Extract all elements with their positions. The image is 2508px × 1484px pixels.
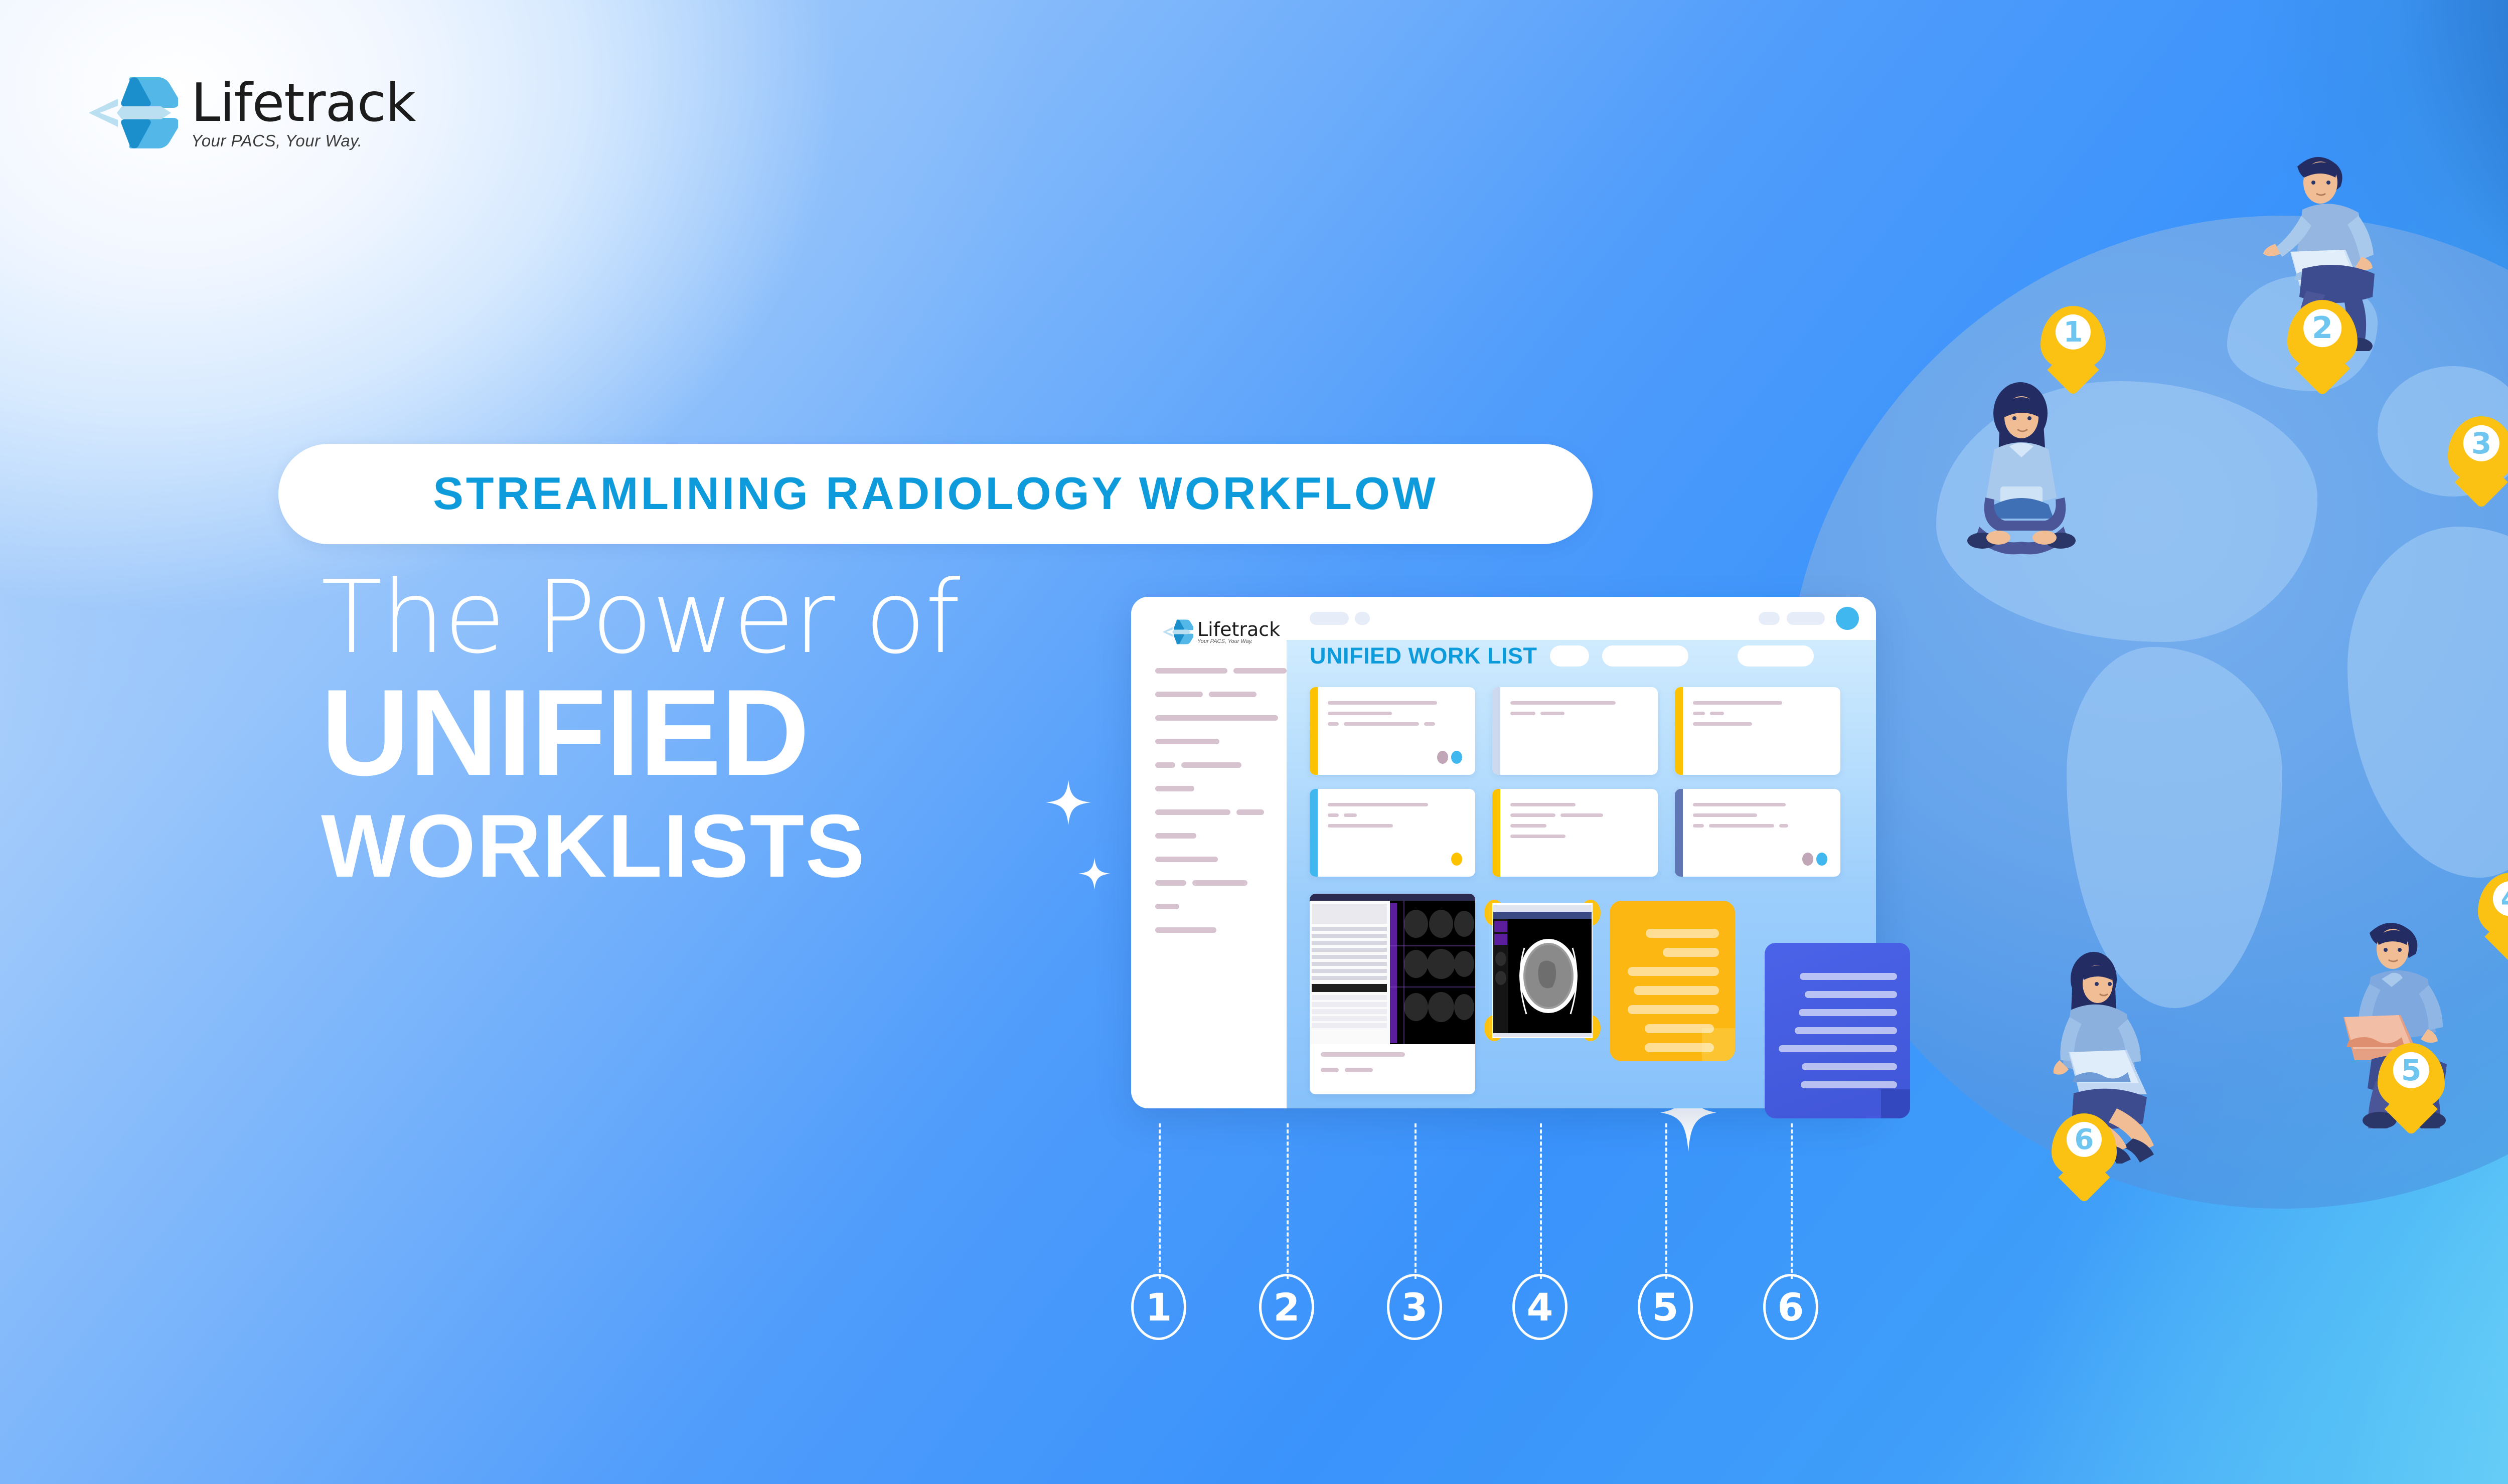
worklist-card-meta-item <box>1693 824 1704 828</box>
sidebar-menu-item[interactable] <box>1155 762 1287 768</box>
sidebar-item-label-placeholder <box>1233 668 1287 674</box>
sidebar-item-label-placeholder <box>1155 715 1278 721</box>
worklist-card-avatars <box>1451 853 1462 866</box>
worklist-card[interactable] <box>1675 687 1840 775</box>
avatar <box>1437 751 1448 764</box>
mockup-topbar[interactable] <box>1287 597 1876 640</box>
brand-name: Lifetrack <box>191 77 415 129</box>
lifetrack-hexagon-arrow-icon <box>88 75 178 150</box>
worklist-card-text-line <box>1510 701 1616 705</box>
worklist-header: UNIFIED WORK LIST <box>1310 643 1876 669</box>
worklist-card-meta-item <box>1709 824 1774 828</box>
worklist-card-meta-item <box>1540 712 1564 715</box>
map-pin-5-number: 5 <box>2393 1052 2429 1088</box>
worklist-card-meta-item <box>1710 712 1724 715</box>
sidebar-menu-item[interactable] <box>1155 857 1287 862</box>
step-connector-line <box>1665 1123 1667 1279</box>
worklist-card[interactable] <box>1310 789 1475 877</box>
sidebar-item-label-placeholder <box>1181 762 1241 768</box>
sidebar-menu-item[interactable] <box>1155 739 1287 744</box>
sidebar-menu-item[interactable] <box>1155 904 1287 909</box>
step-indicator-circle[interactable]: 4 <box>1512 1274 1568 1340</box>
worklist-card-text-line <box>1328 712 1392 715</box>
worklist-card[interactable] <box>1675 789 1840 877</box>
worklist-card-meta-row <box>1328 722 1463 726</box>
worklist-card-text-line <box>1328 824 1393 828</box>
step-indicator-circle[interactable]: 6 <box>1763 1274 1818 1340</box>
map-pin-4-number: 4 <box>2493 881 2508 916</box>
step-indicator-5[interactable]: 5 <box>1638 1274 1693 1340</box>
brand-wordmark: Lifetrack Your PACS, Your Way. <box>191 77 415 149</box>
page-title: The Power of UNIFIED WORKLISTS <box>321 567 960 891</box>
worklist-card-avatars <box>1802 853 1827 866</box>
map-pin-3-number: 3 <box>2463 425 2499 461</box>
worklist-filter-pill[interactable] <box>1738 645 1814 667</box>
worklist-card-meta-item <box>1693 712 1705 715</box>
step-connector-line <box>1159 1123 1161 1279</box>
worklist-card-status-edge <box>1310 687 1318 775</box>
headline-line-3: WORKLISTS <box>321 801 960 891</box>
topbar-pill[interactable] <box>1355 612 1370 625</box>
ct-head-scan[interactable] <box>1492 903 1593 1038</box>
topbar-pill[interactable] <box>1759 612 1780 625</box>
step-connector-line <box>1415 1123 1417 1279</box>
report-document-blue[interactable] <box>1765 943 1910 1118</box>
sidebar-item-label-placeholder <box>1155 668 1227 674</box>
worklist-card-meta-row <box>1693 712 1828 715</box>
worklist-card-text-line <box>1328 701 1437 705</box>
worklist-card-status-edge <box>1310 789 1318 877</box>
worklist-card-meta-row <box>1693 824 1828 828</box>
sidebar-menu-item[interactable] <box>1155 786 1287 791</box>
sidebar-item-label-placeholder <box>1155 927 1216 933</box>
map-pin-1[interactable]: 1 <box>2041 306 2106 371</box>
sidebar-item-label-placeholder <box>1209 692 1257 697</box>
sparkle-icon <box>1046 780 1091 825</box>
sidebar-item-label-placeholder <box>1155 833 1196 839</box>
sidebar-item-label-placeholder <box>1155 809 1230 815</box>
report-document-yellow[interactable] <box>1610 901 1735 1061</box>
worklist-card-grid[interactable] <box>1310 687 1876 877</box>
headline-badge: STREAMLINING RADIOLOGY WORKFLOW <box>278 444 1593 544</box>
step-indicator-circle[interactable]: 3 <box>1387 1274 1442 1340</box>
worklist-card[interactable] <box>1492 789 1658 877</box>
worklist-card-text-line <box>1693 701 1782 705</box>
topbar-pill[interactable] <box>1310 612 1349 625</box>
sidebar-item-label-placeholder <box>1155 857 1218 862</box>
worklist-filter-pill[interactable] <box>1602 645 1688 667</box>
step-indicator-3[interactable]: 3 <box>1387 1274 1442 1340</box>
worklist-card-text-line <box>1328 803 1428 806</box>
lifetrack-hexagon-arrow-icon <box>1162 619 1193 645</box>
sidebar-item-label-placeholder <box>1155 692 1203 697</box>
headline-line-1: The Power of <box>321 567 960 669</box>
sidebar-menu-item[interactable] <box>1155 880 1287 886</box>
avatar <box>1451 751 1462 764</box>
avatar <box>1816 853 1827 866</box>
brand-logo: Lifetrack Your PACS, Your Way. <box>88 75 415 150</box>
sidebar-menu-item[interactable] <box>1155 833 1287 839</box>
step-connector-line <box>1791 1123 1793 1279</box>
map-pin-5[interactable]: 5 <box>2378 1043 2445 1110</box>
topbar-pill[interactable] <box>1787 612 1825 625</box>
step-connector-line <box>1287 1123 1289 1279</box>
step-indicator-1[interactable]: 1 <box>1131 1274 1186 1340</box>
worklist-card-text-line <box>1510 803 1576 806</box>
sidebar-menu-item[interactable] <box>1155 809 1287 815</box>
step-indicator-2[interactable]: 2 <box>1259 1274 1314 1340</box>
brand-tagline: Your PACS, Your Way. <box>191 132 415 149</box>
avatar <box>1802 853 1813 866</box>
sidebar-item-label-placeholder <box>1155 904 1179 909</box>
sidebar-item-label-placeholder <box>1155 880 1186 886</box>
mockup-brand-tagline: Your PACS, Your Way. <box>1197 639 1280 644</box>
worklist-card[interactable] <box>1310 687 1475 775</box>
worklist-card-meta-item <box>1344 722 1419 726</box>
mockup-brand-logo: Lifetrack Your PACS, Your Way. <box>1162 619 1287 645</box>
map-pin-6-number: 6 <box>2067 1122 2102 1157</box>
mockup-brand-name: Lifetrack <box>1197 620 1280 639</box>
map-pin-6[interactable]: 6 <box>2052 1113 2117 1179</box>
worklist-card-text-line <box>1693 722 1752 726</box>
worklist-card-meta-item <box>1424 722 1435 726</box>
worklist-card-meta-item <box>1328 722 1339 726</box>
worklist-card-meta-row <box>1510 813 1646 817</box>
badge-text: STREAMLINING RADIOLOGY WORKFLOW <box>433 468 1438 520</box>
sidebar-menu-item[interactable] <box>1155 715 1287 721</box>
step-indicator-4[interactable]: 4 <box>1512 1274 1568 1340</box>
step-indicator-row[interactable]: 123456 <box>1131 1274 1894 1439</box>
avatar <box>1451 853 1462 866</box>
sidebar-menu-item[interactable] <box>1155 692 1287 697</box>
worklist-card-text-line <box>1693 813 1757 817</box>
sidebar-item-label-placeholder <box>1155 739 1219 744</box>
worklist-card-status-edge <box>1675 687 1683 775</box>
sidebar-menu-item[interactable] <box>1155 927 1287 933</box>
map-pin-1-number: 1 <box>2056 314 2091 350</box>
worklist-card-status-edge <box>1492 789 1500 877</box>
mockup-sidebar[interactable]: Lifetrack Your PACS, Your Way. <box>1131 597 1287 1108</box>
sidebar-item-label-placeholder <box>1192 880 1247 886</box>
worklist-card-text-line <box>1510 835 1565 838</box>
worklist-card-text-line <box>1693 803 1786 806</box>
sidebar-item-label-placeholder <box>1155 762 1175 768</box>
map-pin-2[interactable]: 2 <box>2287 300 2358 370</box>
sidebar-item-label-placeholder <box>1155 786 1194 791</box>
worklist-filter-pill[interactable] <box>1550 645 1589 667</box>
step-indicator-circle[interactable]: 1 <box>1131 1274 1186 1340</box>
worklist-card[interactable] <box>1492 687 1658 775</box>
worklist-card-meta-item <box>1510 813 1555 817</box>
map-pin-3[interactable]: 3 <box>2448 416 2508 483</box>
worklist-card-meta-row <box>1510 712 1646 715</box>
worklist-card-status-edge <box>1492 687 1500 775</box>
mockup-sidebar-menu[interactable] <box>1155 668 1287 933</box>
step-indicator-6[interactable]: 6 <box>1763 1274 1818 1340</box>
avatar[interactable] <box>1836 607 1859 630</box>
step-indicator-circle[interactable]: 5 <box>1638 1274 1693 1340</box>
worklist-card-meta-item <box>1560 813 1603 817</box>
worklist-card-meta-item <box>1779 824 1788 828</box>
worklist-card-meta-item <box>1344 813 1357 817</box>
worklist-card-avatars <box>1437 751 1462 764</box>
mri-study-thumbnail[interactable] <box>1310 894 1475 1094</box>
worklist-card-meta-item <box>1328 813 1339 817</box>
map-pin-2-number: 2 <box>2303 309 2341 347</box>
sparkle-icon <box>1078 858 1111 890</box>
step-indicator-circle[interactable]: 2 <box>1259 1274 1314 1340</box>
worklist-card-status-edge <box>1675 789 1683 877</box>
worklist-title: UNIFIED WORK LIST <box>1310 643 1537 669</box>
sidebar-menu-item[interactable] <box>1155 668 1287 674</box>
headline-line-2: UNIFIED <box>321 672 960 792</box>
step-connector-line <box>1540 1123 1542 1279</box>
sidebar-item-label-placeholder <box>1236 809 1264 815</box>
worklist-card-text-line <box>1510 824 1546 828</box>
worklist-card-meta-item <box>1510 712 1535 715</box>
worklist-card-meta-row <box>1328 813 1463 817</box>
